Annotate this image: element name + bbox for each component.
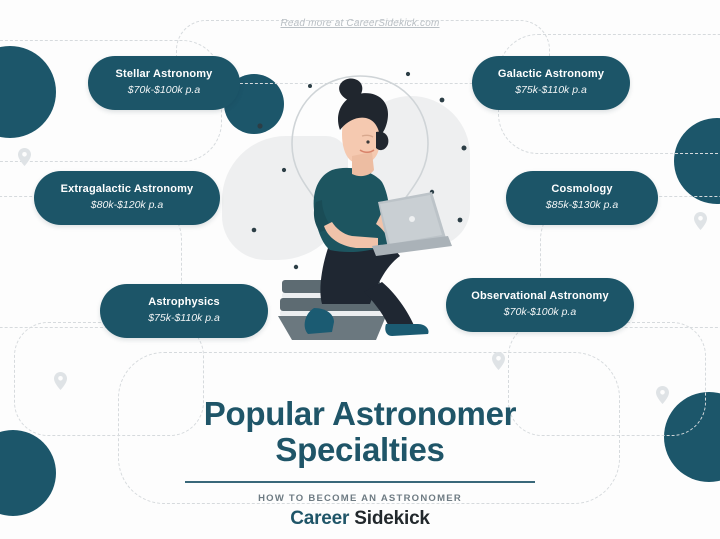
map-pin-icon xyxy=(694,212,707,230)
brand-logo: Career Sidekick xyxy=(0,508,720,530)
specialty-title: Galactic Astronomy xyxy=(488,67,614,82)
footer-subtitle: HOW TO BECOME AN ASTRONOMER xyxy=(0,493,720,504)
page-title-line-2: Specialties xyxy=(0,432,720,468)
page-title-line-1: Popular Astronomer xyxy=(0,396,720,432)
specialty-title: Extragalactic Astronomy xyxy=(50,182,204,197)
specialty-title: Stellar Astronomy xyxy=(104,67,224,82)
map-pin-icon xyxy=(492,352,505,370)
page-title: Popular Astronomer Specialties xyxy=(0,396,720,468)
specialty-title: Observational Astronomy xyxy=(462,289,618,304)
specialty-salary: $85k-$130k p.a xyxy=(522,197,642,213)
specialty-title: Astrophysics xyxy=(116,295,252,310)
title-divider xyxy=(185,481,535,483)
brand-word-career: Career xyxy=(290,508,349,529)
specialty-pill-cosmology[interactable]: Cosmology $85k-$130k p.a xyxy=(506,171,658,225)
specialty-pill-extragalactic-astronomy[interactable]: Extragalactic Astronomy $80k-$120k p.a xyxy=(34,171,220,225)
specialty-title: Cosmology xyxy=(522,182,642,197)
specialty-pill-observational-astronomy[interactable]: Observational Astronomy $70k-$100k p.a xyxy=(446,278,634,332)
read-more-link[interactable]: Read more at CareerSidekick.com xyxy=(0,18,720,29)
map-pin-icon xyxy=(54,372,67,390)
specialty-pill-stellar-astronomy[interactable]: Stellar Astronomy $70k-$100k p.a xyxy=(88,56,240,110)
map-pin-icon xyxy=(18,148,31,166)
specialty-salary: $75k-$110k p.a xyxy=(488,82,614,98)
title-block: Popular Astronomer Specialties HOW TO BE… xyxy=(0,396,720,530)
infographic-page: Read more at CareerSidekick.com xyxy=(0,0,720,539)
specialty-salary: $70k-$100k p.a xyxy=(104,82,224,98)
laptop xyxy=(372,192,452,256)
specialty-pill-astrophysics[interactable]: Astrophysics $75k-$110k p.a xyxy=(100,284,268,338)
brand-word-sidekick: Sidekick xyxy=(354,508,430,529)
background-blob-top-left xyxy=(0,46,56,138)
specialty-salary: $70k-$100k p.a xyxy=(462,304,618,320)
background-blob-top-right xyxy=(674,118,720,204)
specialty-salary: $75k-$110k p.a xyxy=(116,310,252,326)
specialty-salary: $80k-$120k p.a xyxy=(50,197,204,213)
specialty-pill-galactic-astronomy[interactable]: Galactic Astronomy $75k-$110k p.a xyxy=(472,56,630,110)
